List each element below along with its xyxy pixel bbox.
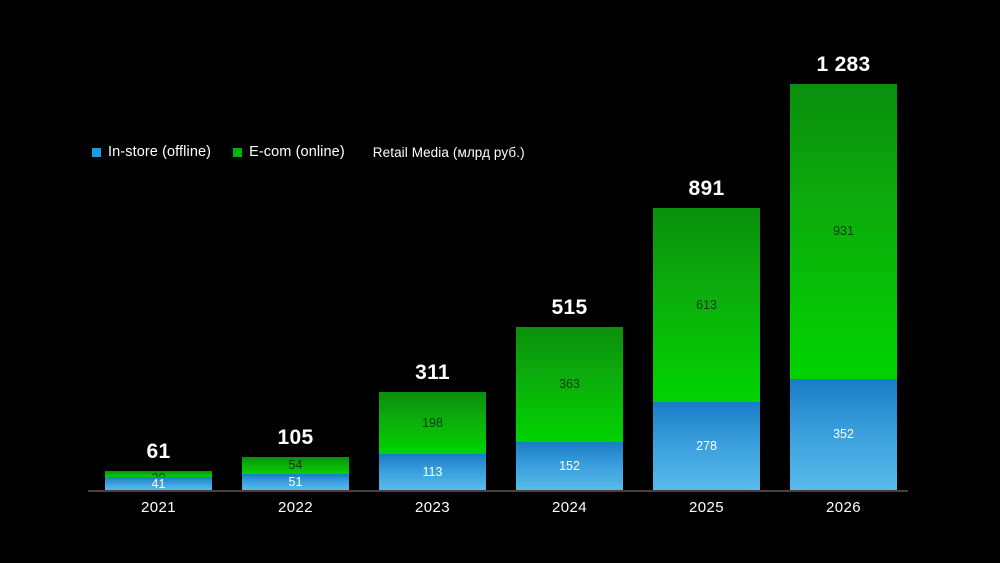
bar-segment-label-in-store-2021: 41 (105, 478, 212, 490)
x-axis-tick-2025: 2025 (653, 499, 760, 516)
bar-segment-label-e-com-2024: 363 (516, 378, 623, 391)
bar-total-label-2021: 61 (105, 440, 212, 464)
bar-segment-e-com-2022[interactable]: 54 (242, 457, 349, 474)
bar-group-2026[interactable]: 1 2839313522026 (790, 0, 897, 563)
bar-total-label-2026: 1 283 (790, 53, 897, 77)
bar-segment-in-store-2023[interactable]: 113 (379, 454, 486, 490)
bar-segment-in-store-2025[interactable]: 278 (653, 402, 760, 490)
x-axis-tick-2026: 2026 (790, 499, 897, 516)
bar-total-label-2023: 311 (379, 361, 486, 385)
bar-group-2024[interactable]: 5153631522024 (516, 0, 623, 563)
bar-segment-label-e-com-2026: 931 (790, 225, 897, 238)
x-axis-tick-2021: 2021 (105, 499, 212, 516)
bar-segment-in-store-2022[interactable]: 51 (242, 474, 349, 490)
x-axis-tick-2024: 2024 (516, 499, 623, 516)
bar-group-2023[interactable]: 3111981132023 (379, 0, 486, 563)
bar-total-label-2022: 105 (242, 426, 349, 450)
bar-segment-label-in-store-2022: 51 (242, 476, 349, 489)
bar-segment-label-in-store-2025: 278 (653, 440, 760, 453)
bar-total-label-2024: 515 (516, 296, 623, 320)
plot-area: 6120412021105545120223111981132023515363… (0, 0, 1000, 563)
bar-segment-e-com-2023[interactable]: 198 (379, 392, 486, 455)
bar-total-label-2025: 891 (653, 177, 760, 201)
chart-canvas: In-store (offline) E-com (online) Retail… (0, 0, 1000, 563)
bar-segment-e-com-2025[interactable]: 613 (653, 208, 760, 402)
bar-group-2022[interactable]: 10554512022 (242, 0, 349, 563)
bar-group-2021[interactable]: 6120412021 (105, 0, 212, 563)
bar-segment-e-com-2026[interactable]: 931 (790, 84, 897, 379)
bar-segment-label-in-store-2023: 113 (379, 466, 486, 479)
x-axis-tick-2023: 2023 (379, 499, 486, 516)
bar-segment-label-e-com-2023: 198 (379, 417, 486, 430)
bar-segment-label-in-store-2026: 352 (790, 428, 897, 441)
x-axis-tick-2022: 2022 (242, 499, 349, 516)
bar-segment-in-store-2021[interactable]: 41 (105, 477, 212, 490)
bar-segment-in-store-2026[interactable]: 352 (790, 379, 897, 490)
bar-group-2025[interactable]: 8916132782025 (653, 0, 760, 563)
bar-segment-label-e-com-2022: 54 (242, 459, 349, 472)
bar-segment-label-e-com-2025: 613 (653, 299, 760, 312)
bar-segment-e-com-2024[interactable]: 363 (516, 327, 623, 442)
bar-segment-in-store-2024[interactable]: 152 (516, 442, 623, 490)
bar-segment-label-in-store-2024: 152 (516, 460, 623, 473)
